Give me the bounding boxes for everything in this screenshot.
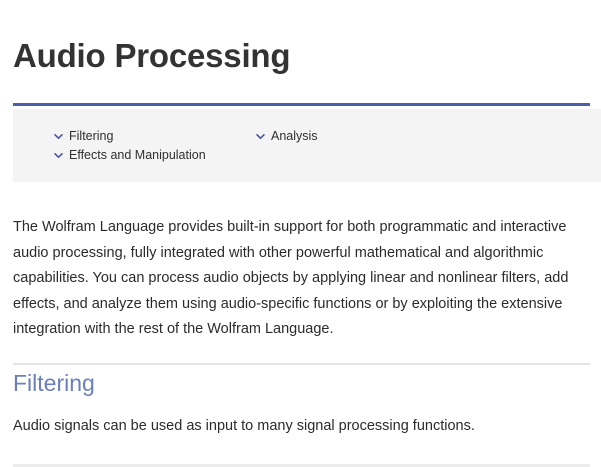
- intro-paragraph: The Wolfram Language provides built-in s…: [13, 215, 573, 343]
- section-heading-filtering: Filtering: [13, 368, 95, 398]
- sidebar-item-label: Analysis: [271, 129, 318, 143]
- section-nav-list: Filtering Effects and Manipulation Analy…: [13, 123, 601, 182]
- chevron-down-icon: [54, 132, 63, 141]
- sidebar-item-label: Filtering: [69, 129, 113, 143]
- chevron-down-icon: [256, 132, 265, 141]
- chevron-down-icon: [54, 151, 63, 160]
- page-title: Audio Processing: [13, 36, 290, 76]
- section-divider: [13, 363, 590, 365]
- sidebar-item-effects-and-manipulation[interactable]: Effects and Manipulation: [54, 148, 206, 162]
- section-body-filtering: Audio signals can be used as input to ma…: [13, 414, 583, 438]
- section-nav-panel: Filtering Effects and Manipulation Analy…: [13, 109, 601, 182]
- title-divider: [13, 103, 590, 106]
- sidebar-item-label: Effects and Manipulation: [69, 148, 206, 162]
- sidebar-item-filtering[interactable]: Filtering: [54, 129, 113, 143]
- sidebar-item-analysis[interactable]: Analysis: [256, 129, 318, 143]
- document-page: Audio Processing Filtering Effects and M…: [0, 0, 601, 467]
